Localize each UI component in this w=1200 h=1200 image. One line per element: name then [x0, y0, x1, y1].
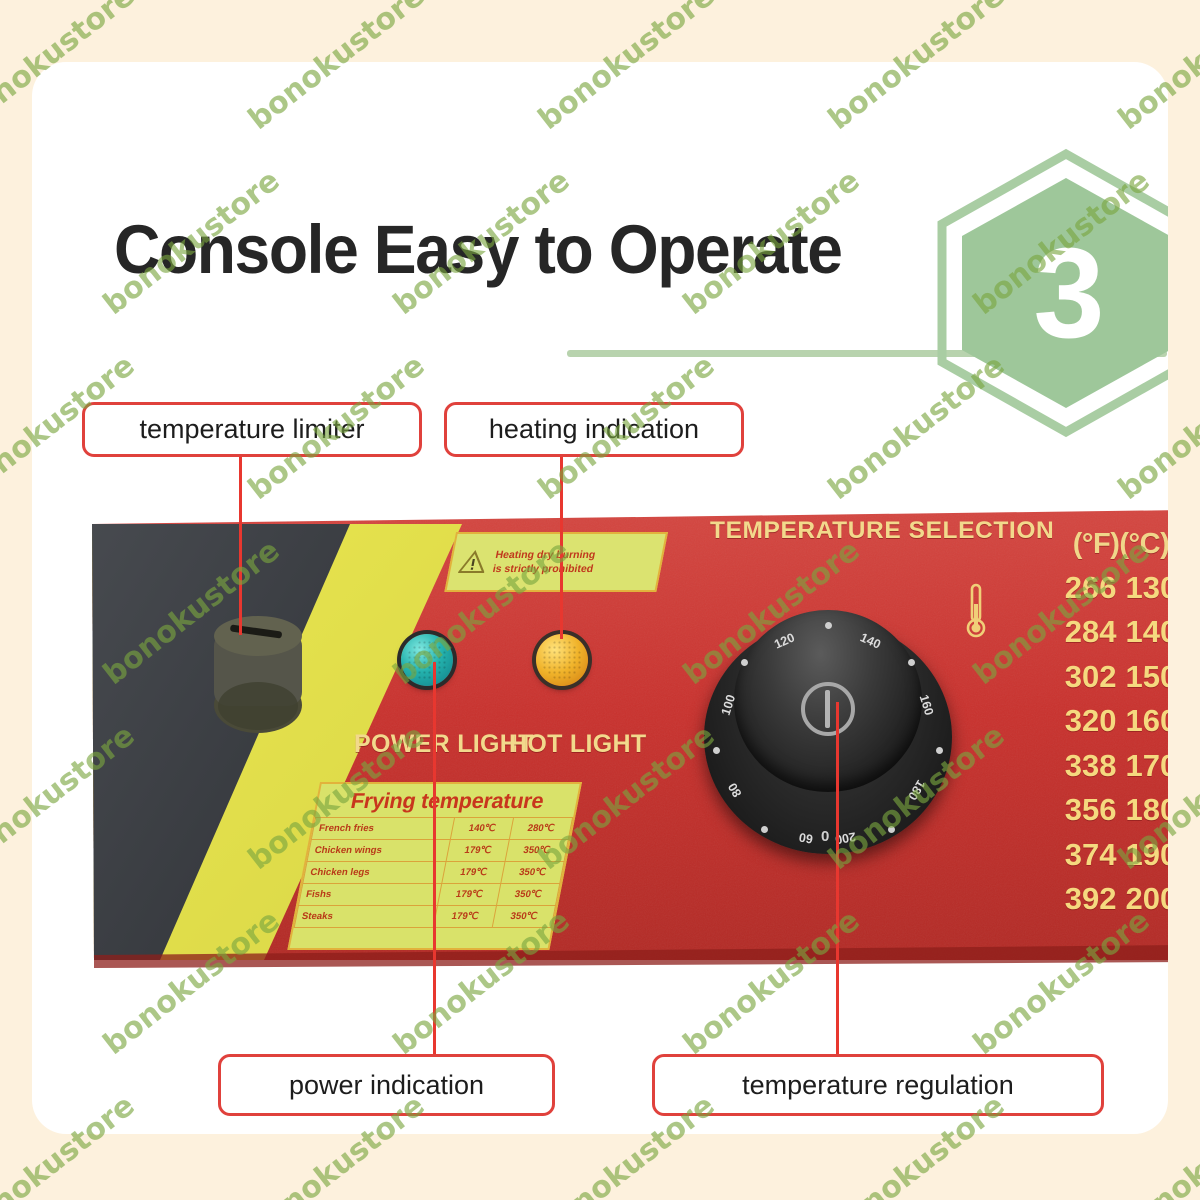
- knob-tick: [825, 622, 832, 629]
- temp-conversion-header: (°F)(°C): [1046, 528, 1168, 561]
- temp-fahrenheit: 392: [1065, 881, 1117, 917]
- lamp-mesh: [407, 640, 447, 680]
- temp-conversion-row: 320160: [1046, 703, 1168, 739]
- temp-conversion-row: 338170: [1046, 748, 1168, 784]
- frying-cell-food: Steaks: [294, 906, 438, 928]
- unit-fahrenheit-header: (°F): [1073, 528, 1120, 560]
- frying-cell-c: 179℃: [438, 884, 501, 906]
- warning-triangle-icon: [458, 550, 489, 574]
- hot-light-label: HOT LIGHT: [509, 730, 646, 759]
- warning-text: Heating dry burning is strictly prohibit…: [491, 548, 597, 576]
- temp-celsius: 150: [1126, 659, 1169, 695]
- leader-line-power-indication: [433, 662, 436, 1054]
- temp-celsius: 130: [1126, 570, 1169, 606]
- frying-cell-f: 350℃: [497, 884, 560, 906]
- callout-heating-indication: heating indication: [444, 402, 744, 457]
- temp-celsius: 180: [1126, 792, 1169, 828]
- temp-fahrenheit: 266: [1065, 570, 1117, 606]
- frying-table-row: Chicken wings179℃350℃: [307, 840, 568, 862]
- temp-conversion-row: 302150: [1046, 659, 1168, 695]
- step-badge: 3: [932, 148, 1168, 438]
- lamp-mesh: [542, 640, 582, 680]
- unit-celsius-header: (°C): [1119, 528, 1168, 560]
- frying-cell-c: 179℃: [433, 906, 496, 928]
- warning-line-1: Heating dry burning: [494, 548, 597, 562]
- leader-line-temperature-limiter: [239, 457, 242, 635]
- power-indicator-lamp[interactable]: [401, 634, 453, 686]
- temperature-selection-title: TEMPERATURE SELECTION: [710, 517, 1054, 545]
- temp-conversion-row: 374190: [1046, 837, 1168, 873]
- content-card: TEMPERATURE SELECTION POWER LIGHT HOT LI…: [32, 62, 1168, 1134]
- temp-fahrenheit: 356: [1065, 792, 1117, 828]
- frying-table-row: Steaks179℃350℃: [294, 906, 555, 928]
- frying-table-title: Frying temperature: [315, 784, 579, 817]
- temp-celsius: 140: [1126, 614, 1169, 650]
- temp-fahrenheit: 302: [1065, 659, 1117, 695]
- leader-line-heating-indication: [560, 457, 563, 639]
- warning-line-2: is strictly prohibited: [491, 562, 594, 576]
- knob-needle: [825, 690, 830, 728]
- callout-temperature-regulation: temperature regulation: [652, 1054, 1104, 1116]
- temp-conversion-row: 266130: [1046, 570, 1168, 606]
- knob-dial-number: 60: [798, 830, 814, 846]
- temp-celsius: 200: [1126, 881, 1169, 917]
- knob-tick: [888, 826, 895, 833]
- frying-table-row: Fishs179℃350℃: [298, 884, 559, 906]
- frying-cell-food: Chicken wings: [307, 840, 451, 862]
- temperature-regulation-knob[interactable]: 6080100120140160180200 0: [704, 602, 952, 860]
- temperature-conversion-table: (°F)(°C) 2661302841403021503201603381703…: [1046, 528, 1168, 917]
- frying-cell-food: Fishs: [298, 884, 442, 906]
- frying-table-row: French fries140℃280℃: [311, 818, 572, 840]
- temp-fahrenheit: 338: [1065, 748, 1117, 784]
- frying-cell-food: Chicken legs: [303, 862, 447, 884]
- temp-conversion-row: 356180: [1046, 792, 1168, 828]
- frying-cell-f: 350℃: [505, 840, 568, 862]
- temp-fahrenheit: 284: [1065, 614, 1117, 650]
- hot-indicator-lamp[interactable]: [536, 634, 588, 686]
- knob-zero-mark: 0: [821, 828, 829, 845]
- badge-number: 3: [932, 148, 1168, 438]
- temp-fahrenheit: 320: [1065, 703, 1117, 739]
- knob-tick: [741, 659, 748, 666]
- frying-cell-f: 350℃: [492, 906, 555, 928]
- callout-temperature-limiter: temperature limiter: [82, 402, 422, 457]
- temp-celsius: 170: [1126, 748, 1169, 784]
- frying-cell-f: 350℃: [501, 862, 564, 884]
- temperature-limiter-knob[interactable]: [200, 610, 320, 740]
- frying-cell-c: 179℃: [446, 840, 509, 862]
- temp-fahrenheit: 374: [1065, 837, 1117, 873]
- temp-conversion-row: 392200: [1046, 881, 1168, 917]
- leader-line-temperature-regulation: [836, 702, 839, 1054]
- warning-sticker: Heating dry burning is strictly prohibit…: [444, 532, 668, 592]
- temp-conversion-row: 284140: [1046, 614, 1168, 650]
- temp-celsius: 190: [1126, 837, 1169, 873]
- frying-cell-c: 179℃: [442, 862, 505, 884]
- temp-celsius: 160: [1126, 703, 1169, 739]
- page-title: Console Easy to Operate: [114, 210, 841, 289]
- callout-power-indication: power indication: [218, 1054, 555, 1116]
- frying-cell-f: 280℃: [509, 818, 572, 840]
- thermometer-icon: [962, 582, 990, 640]
- frying-cell-c: 140℃: [451, 818, 514, 840]
- power-light-label: POWER LIGHT: [354, 730, 534, 759]
